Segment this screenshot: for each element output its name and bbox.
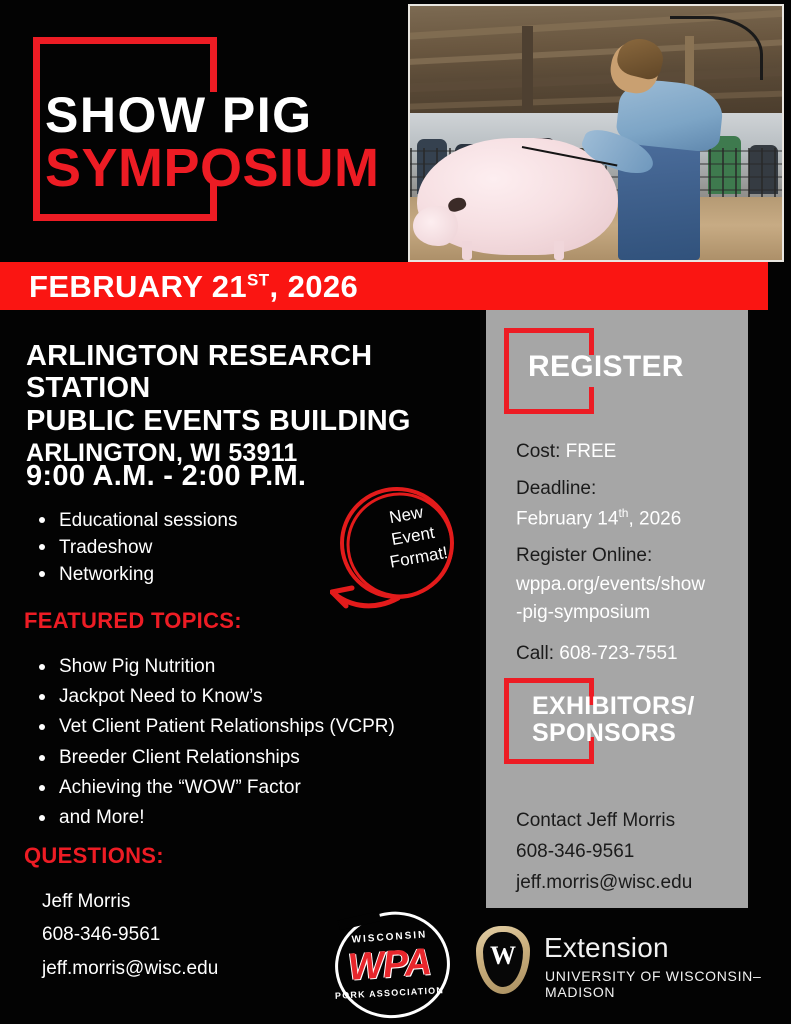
wisconsin-pork-association-logo: WISCONSIN WPA PORK ASSOCIATION [331,906,448,1018]
exhibitors-contact-email[interactable]: jeff.morris@wisc.edu [516,868,738,899]
exhibitors-contact-phone: 608-346-9561 [516,837,738,868]
register-call-value: 608-723-7551 [559,643,677,664]
date-banner: FEBRUARY 21ST, 2026 [0,262,768,310]
event-time: 9:00 A.M. - 2:00 P.M. [26,460,306,493]
questions-name: Jeff Morris [42,885,218,918]
date-ordinal: ST [247,271,270,290]
exhibitors-heading-line-1: EXHIBITORS/ [532,693,695,720]
list-item: Vet Client Patient Relationships (VCPR) [34,712,484,742]
date-year: , 2026 [270,269,359,304]
questions-email[interactable]: jeff.morris@wisc.edu [42,952,218,985]
highlights-list: Educational sessions Tradeshow Networkin… [34,508,314,589]
title-line-2: SYMPOSIUM [45,143,405,194]
deadline-year: , 2026 [628,508,681,529]
register-online: Register Online: wppa.org/events/show -p… [516,542,738,628]
venue-line-1: ARLINGTON RESEARCH STATION [26,340,466,405]
list-item: Achieving the “WOW” Factor [34,773,484,803]
venue-block: ARLINGTON RESEARCH STATION PUBLIC EVENTS… [26,340,466,468]
register-heading: REGISTER [528,350,684,384]
register-call-label: Call: [516,643,559,664]
uw-crest-letter: W [476,941,530,971]
page-title: SHOW PIG SYMPOSIUM [45,92,405,194]
deadline-ordinal: th [618,506,628,520]
list-item: Tradeshow [34,535,314,562]
new-event-format-badge: New Event Format! [330,480,480,620]
questions-heading: QUESTIONS: [24,843,164,869]
register-call: Call: 608-723-7551 [516,640,738,669]
register-deadline-date: February 14th, 2026 [516,504,738,534]
exhibitors-heading: EXHIBITORS/ SPONSORS [532,693,695,746]
title-line-1: SHOW PIG [45,92,405,140]
featured-topics-list: Show Pig Nutrition Jackpot Need to Know’… [34,652,484,833]
register-deadline: Deadline: February 14th, 2026 [516,475,738,533]
list-item: Networking [34,562,314,589]
featured-topics-heading: FEATURED TOPICS: [24,608,242,634]
date-month-day: FEBRUARY 21 [29,269,247,304]
exhibitors-heading-line-2: SPONSORS [532,720,695,747]
uw-extension-subtitle: UNIVERSITY OF WISCONSIN–MADISON [545,968,776,1000]
register-deadline-label: Deadline: [516,475,738,504]
register-url-line-1[interactable]: wppa.org/events/show [516,571,738,600]
register-online-label: Register Online: [516,542,738,571]
wpa-wordmark: WPA [330,940,450,991]
photo-pig-ear [446,195,467,213]
questions-phone: 608-346-9561 [42,918,218,951]
register-url-line-2[interactable]: -pig-symposium [516,599,738,628]
register-cost-label: Cost: [516,441,566,462]
photo-pig-leg [462,241,472,260]
list-item: and More! [34,803,484,833]
list-item: Breeder Client Relationships [34,743,484,773]
questions-contact: Jeff Morris 608-346-9561 jeff.morris@wis… [42,885,218,985]
list-item: Show Pig Nutrition [34,652,484,682]
photo-pig-leg [554,241,564,260]
uw-extension-logo: W Extension UNIVERSITY OF WISCONSIN–MADI… [476,928,776,1000]
flyer-poster: SHOW PIG SYMPOSIUM FEBRUARY 21ST, 2026 A… [0,0,791,1024]
exhibitors-contact: Contact Jeff Morris 608-346-9561 jeff.mo… [516,806,738,898]
venue-line-2: PUBLIC EVENTS BUILDING [26,405,466,437]
deadline-month-day: February 14 [516,508,618,529]
register-cost-value: FREE [566,441,617,462]
list-item: Educational sessions [34,508,314,535]
hero-photo-show-pig [408,4,784,262]
register-cost: Cost: FREE [516,438,738,467]
right-info-panel: REGISTER Cost: FREE Deadline: February 1… [486,310,748,908]
exhibitors-contact-name: Contact Jeff Morris [516,806,738,837]
photo-pig-head [413,206,457,246]
date-text: FEBRUARY 21ST, 2026 [29,269,358,305]
uw-extension-wordmark: Extension [544,932,669,964]
uw-crest-icon: W [476,926,530,994]
list-item: Jackpot Need to Know’s [34,682,484,712]
title-block: SHOW PIG SYMPOSIUM [0,0,408,262]
